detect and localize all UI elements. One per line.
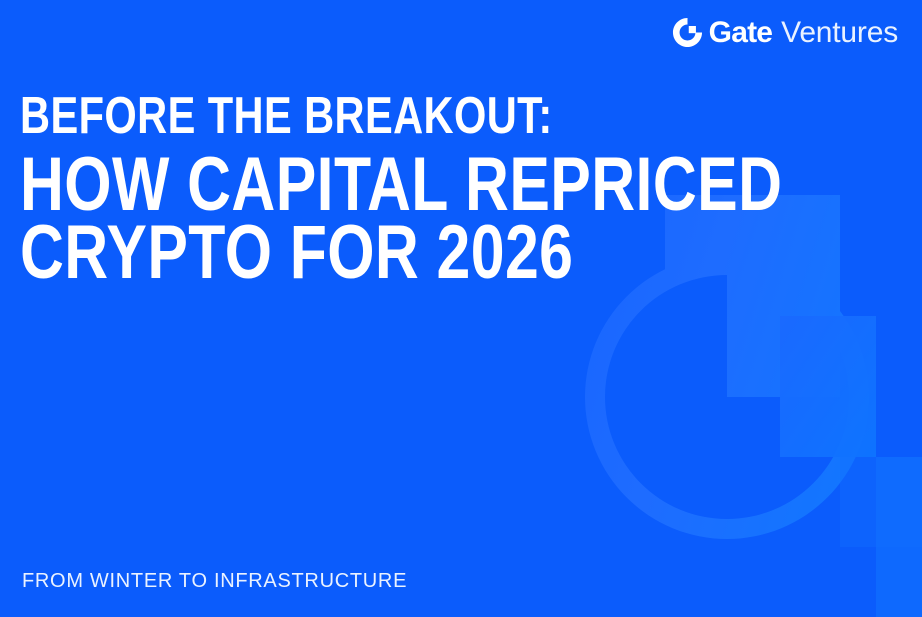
headline-line-2: CRYPTO FOR 2026	[20, 218, 782, 288]
headline-kicker: BEFORE THE BREAKOUT:	[20, 92, 782, 142]
headline-block: BEFORE THE BREAKOUT: HOW CAPITAL REPRICE…	[20, 92, 922, 288]
brand-lockup: Gate Ventures	[672, 17, 898, 48]
title-slide: Gate Ventures BEFORE THE BREAKOUT: HOW C…	[0, 0, 922, 617]
brand-name-gate: Gate	[709, 18, 773, 48]
gate-logo-mark-icon	[672, 17, 703, 48]
brand-name-ventures: Ventures	[781, 18, 898, 48]
footer-tagline: FROM WINTER TO INFRASTRUCTURE	[22, 570, 407, 593]
